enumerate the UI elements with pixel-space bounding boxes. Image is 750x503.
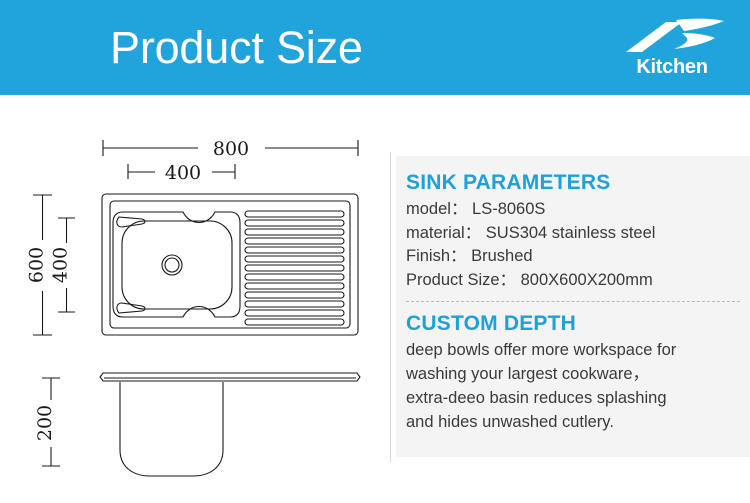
custom-depth-line-2: washing your largest cookware， (406, 363, 740, 387)
custom-depth-line-3: extra-deeo basin reduces splashing (406, 387, 740, 411)
dimension-label-600: 600 (26, 247, 48, 283)
dimension-label-400-horizontal: 400 (165, 162, 201, 184)
technical-drawing-panel: 800 400 600 400 200 (0, 95, 390, 503)
specification-panel: SINK PARAMETERS model： LS-8060S material… (396, 156, 750, 457)
sink-parameters-heading: SINK PARAMETERS (406, 170, 740, 196)
page-header: Product Size Kitchen (0, 0, 750, 95)
dimension-label-200: 200 (34, 405, 56, 441)
custom-depth-line-1: deep bowls offer more workspace for (406, 339, 740, 363)
custom-depth-heading: CUSTOM DEPTH (406, 311, 740, 337)
spec-row-model: model： LS-8060S (406, 198, 740, 221)
dimension-label-800: 800 (213, 138, 249, 160)
spec-row-product-size: Product Size： 800X600X200mm (406, 269, 740, 292)
spec-row-finish: Finish： Brushed (406, 245, 740, 268)
sink-side-view (100, 373, 360, 476)
spec-row-material: material： SUS304 stainless steel (406, 222, 740, 245)
page-title: Product Size (110, 22, 363, 74)
sink-top-view (102, 194, 358, 335)
panel-divider (390, 152, 391, 462)
brand-name: Kitchen (616, 56, 728, 79)
custom-depth-line-4: and hides unwashed cutlery. (406, 411, 740, 435)
dimension-label-400-vertical: 400 (50, 247, 72, 283)
spec-separator (406, 301, 740, 302)
brand-logo: Kitchen (616, 16, 728, 80)
